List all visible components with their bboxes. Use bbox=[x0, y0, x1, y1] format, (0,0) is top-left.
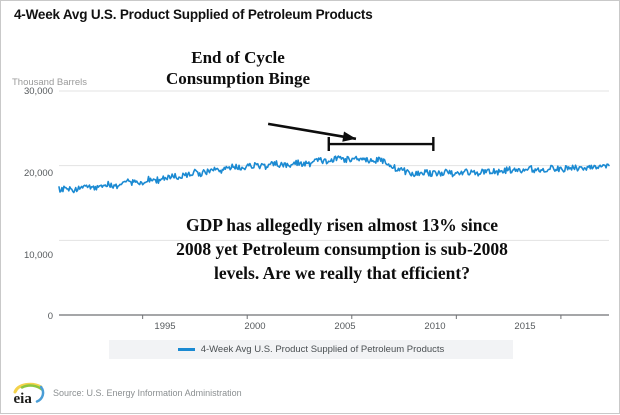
annotation-end-of-cycle: End of Cycle Consumption Binge bbox=[123, 47, 353, 89]
y-tick-label-20000: 20,000 bbox=[5, 168, 53, 179]
svg-text:eia: eia bbox=[14, 391, 33, 405]
eia-logo-icon: eia bbox=[12, 381, 46, 405]
x-tick-label-2015: 2015 bbox=[502, 321, 548, 332]
y-tick-label-10000: 10,000 bbox=[5, 250, 53, 261]
chart-legend[interactable]: 4-Week Avg U.S. Product Supplied of Petr… bbox=[109, 340, 513, 359]
annotation-arrow-head bbox=[342, 132, 356, 142]
legend-color-swatch bbox=[178, 348, 195, 351]
x-tick-label-1995: 1995 bbox=[142, 321, 188, 332]
chart-card: 4-Week Avg U.S. Product Supplied of Petr… bbox=[0, 0, 620, 414]
chart-footer: eia Source: U.S. Energy Information Admi… bbox=[12, 381, 242, 405]
annotation-gdp-line-3: levels. Are we really that efficient? bbox=[107, 261, 577, 285]
series-line-petroleum-supplied bbox=[59, 156, 609, 192]
annotation-gdp-line-1: GDP has allegedly risen almost 13% since bbox=[107, 213, 577, 237]
y-tick-label-0: 0 bbox=[5, 311, 53, 322]
x-tick-label-2005: 2005 bbox=[322, 321, 368, 332]
y-tick-label-30000: 30,000 bbox=[5, 86, 53, 97]
x-tick-label-2010: 2010 bbox=[412, 321, 458, 332]
annotation-arrow-shaft bbox=[268, 124, 356, 139]
annotation-line-2: Consumption Binge bbox=[166, 69, 310, 88]
legend-series-label: 4-Week Avg U.S. Product Supplied of Petr… bbox=[201, 344, 445, 355]
annotation-line-1: End of Cycle bbox=[191, 48, 285, 67]
source-attribution: Source: U.S. Energy Information Administ… bbox=[53, 388, 242, 398]
annotation-gdp-line-2: 2008 yet Petroleum consumption is sub-20… bbox=[107, 237, 577, 261]
x-tick-label-2000: 2000 bbox=[232, 321, 278, 332]
annotation-gdp-commentary: GDP has allegedly risen almost 13% since… bbox=[107, 213, 577, 285]
annotation-layer bbox=[268, 124, 433, 151]
